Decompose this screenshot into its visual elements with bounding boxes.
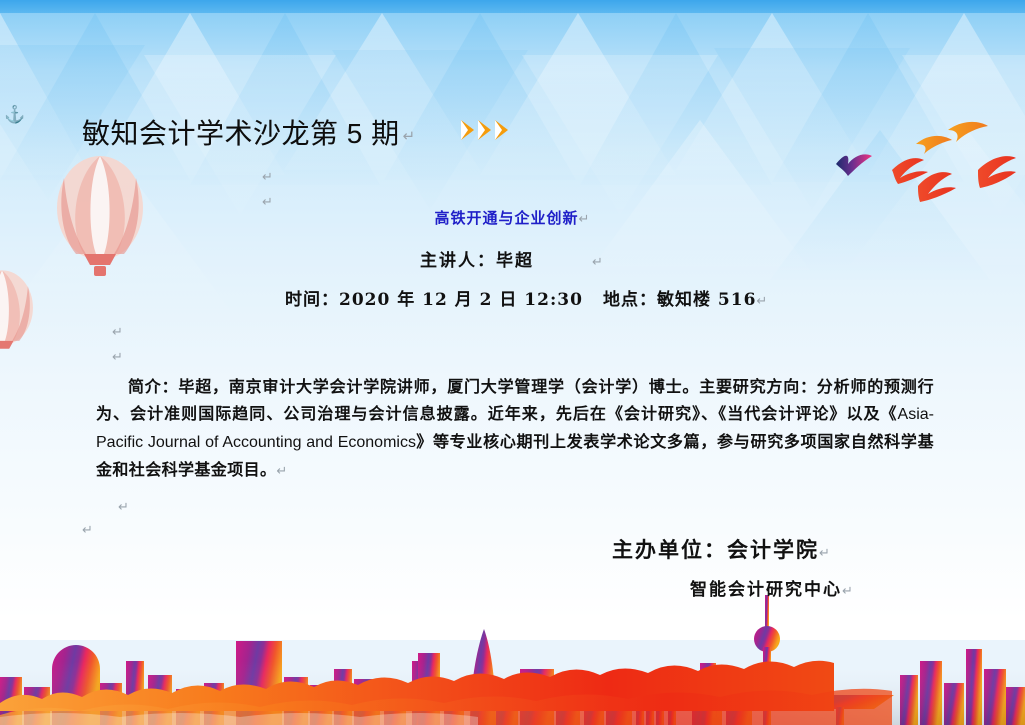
poster-page: ⚓ [0, 0, 1025, 725]
pilcrow-blank-5: ↵ [262, 170, 273, 185]
organizer-line-1-text: 主办单位：会计学院 [612, 537, 819, 562]
event-speaker: 主讲人：毕超↵ [0, 246, 1025, 271]
pilcrow-bio: ↵ [276, 464, 287, 479]
chevron-right-icon [478, 120, 491, 140]
document-text-layer: 敏知会计学术沙龙第 5 期↵ 高铁开通与企业创新↵ 主讲人：毕超↵ 时间：202… [0, 0, 1025, 725]
organizer-line-2: 智能会计研究中心↵ [690, 575, 855, 600]
event-time: 时间：2020 年 12 月 2 日 12:30 [285, 285, 583, 310]
chevron-right-icon [495, 120, 508, 140]
pilcrow-blank-4: ↵ [82, 523, 93, 538]
pilcrow-blank-1: ↵ [112, 325, 123, 340]
pilcrow-speaker: ↵ [592, 255, 605, 270]
event-topic-text: 高铁开通与企业创新 [435, 209, 579, 227]
chevron-ornament [461, 120, 508, 140]
pilcrow-org1: ↵ [819, 546, 832, 561]
event-topic: 高铁开通与企业创新↵ [0, 207, 1025, 228]
pilcrow-blank-6: ↵ [262, 195, 273, 210]
pilcrow-org2: ↵ [842, 584, 855, 599]
event-place: 地点：敏知楼 516↵ [603, 285, 768, 310]
pilcrow-blank-2: ↵ [112, 350, 123, 365]
organizer-line-1: 主办单位：会计学院↵ [612, 534, 832, 564]
organizer-line-2-text: 智能会计研究中心 [690, 580, 842, 600]
page-title-text: 敏知会计学术沙龙第 5 期 [82, 118, 400, 149]
pilcrow-topic: ↵ [579, 212, 591, 227]
bio-lead: 简介：毕超，南京审计大学会计学院讲师，厦门大学管理学（会计学）博士。主要研究方向… [96, 377, 934, 423]
pilcrow-title: ↵ [403, 127, 416, 145]
pilcrow-place: ↵ [756, 294, 768, 309]
event-speaker-text: 主讲人：毕超 [420, 251, 534, 271]
chevron-right-icon [461, 120, 474, 140]
speaker-bio: 简介：毕超，南京审计大学会计学院讲师，厦门大学管理学（会计学）博士。主要研究方向… [96, 373, 934, 485]
event-place-text: 地点：敏知楼 516 [603, 290, 756, 310]
page-title: 敏知会计学术沙龙第 5 期↵ [82, 112, 416, 152]
pilcrow-blank-3: ↵ [118, 500, 129, 515]
